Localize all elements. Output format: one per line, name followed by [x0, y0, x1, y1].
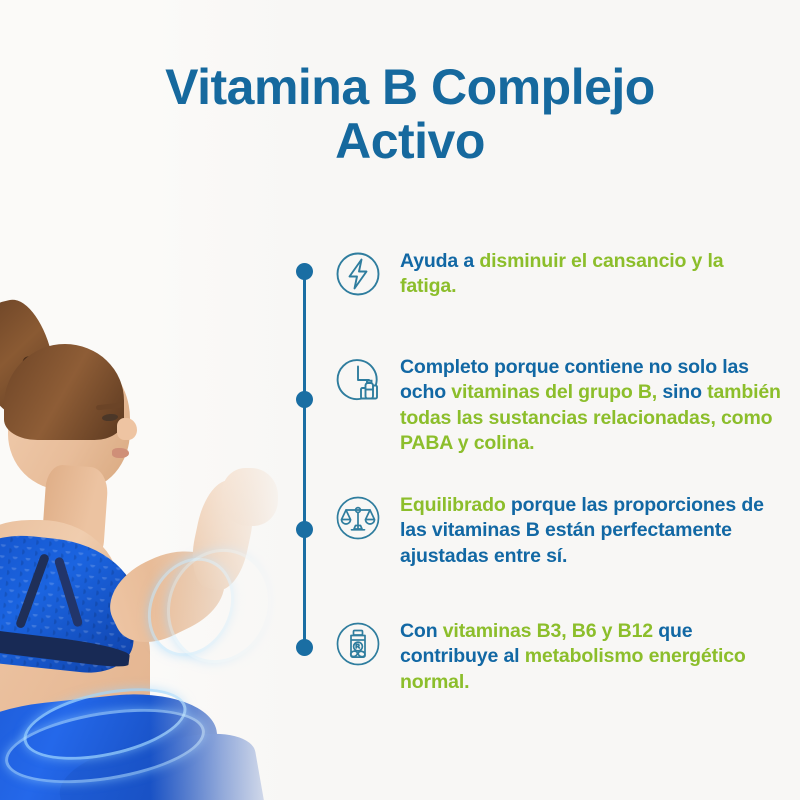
shoulder	[0, 520, 120, 680]
torso	[0, 600, 150, 760]
benefit-segment: Ayuda a	[400, 250, 479, 272]
energy-swirl-icon	[132, 543, 250, 671]
page-title: Vitamina B Complejo Activo	[120, 60, 700, 168]
benefit-text: Completo porque contiene no solo las och…	[400, 352, 785, 456]
fist	[222, 468, 278, 526]
leggings	[0, 685, 227, 800]
hair-band	[21, 355, 40, 383]
bra-strap-left	[15, 553, 50, 629]
benefit-text: Equilibrado porque las proporciones de l…	[400, 490, 785, 569]
infographic-poster: Vitamina B Complejo Activo Ayuda a dismi…	[0, 0, 800, 800]
supplement-bottle-circle-icon	[330, 616, 386, 672]
benefit-segment: vitaminas B3, B6 y B12	[443, 620, 659, 642]
benefit-text: Con vitaminas B3, B6 y B12 que contribuy…	[400, 616, 785, 695]
benefit-segment: Con	[400, 620, 443, 642]
bra-strap-right	[54, 556, 84, 627]
ponytail	[0, 293, 65, 426]
energy-swirl-icon	[0, 697, 210, 796]
sports-bra-pattern	[0, 529, 143, 678]
energy-swirl-icon	[150, 533, 288, 679]
benefit-item: Completo porque contiene no solo las och…	[330, 352, 785, 456]
eyebrow	[96, 403, 122, 411]
head	[8, 350, 130, 490]
lightning-bolt-circle-icon	[330, 246, 386, 302]
benefit-item: Con vitaminas B3, B6 y B12 que contribuy…	[330, 616, 785, 695]
timeline-dot	[296, 391, 313, 408]
benefit-segment: Equilibrado	[400, 494, 511, 516]
benefit-item: Ayuda a disminuir el cansancio y la fati…	[330, 246, 785, 302]
upper-arm	[97, 534, 237, 656]
balance-scale-circle-icon	[330, 490, 386, 546]
sports-bra-band	[0, 625, 131, 669]
energy-swirl-icon	[17, 675, 193, 772]
eye	[102, 413, 119, 421]
neck	[41, 464, 109, 558]
forearm	[185, 476, 261, 595]
hair	[4, 344, 124, 440]
timeline-dot	[296, 263, 313, 280]
lips	[112, 448, 129, 458]
ponytail-back	[0, 310, 38, 401]
sports-bra	[0, 529, 143, 678]
benefit-text: Ayuda a disminuir el cansancio y la fati…	[400, 246, 785, 300]
page-title-line-2: Activo	[120, 114, 700, 168]
clock-pills-icon	[330, 352, 386, 408]
benefit-segment: vitaminas del grupo B,	[451, 381, 662, 403]
benefit-segment: sino	[662, 381, 707, 403]
timeline-dot	[296, 521, 313, 538]
benefit-item: Equilibrado porque las proporciones de l…	[330, 490, 785, 569]
timeline-dot	[296, 639, 313, 656]
timeline-line	[303, 270, 306, 648]
nose	[117, 418, 137, 440]
leggings-leg	[54, 725, 267, 800]
page-title-line-1: Vitamina B Complejo	[120, 60, 700, 114]
